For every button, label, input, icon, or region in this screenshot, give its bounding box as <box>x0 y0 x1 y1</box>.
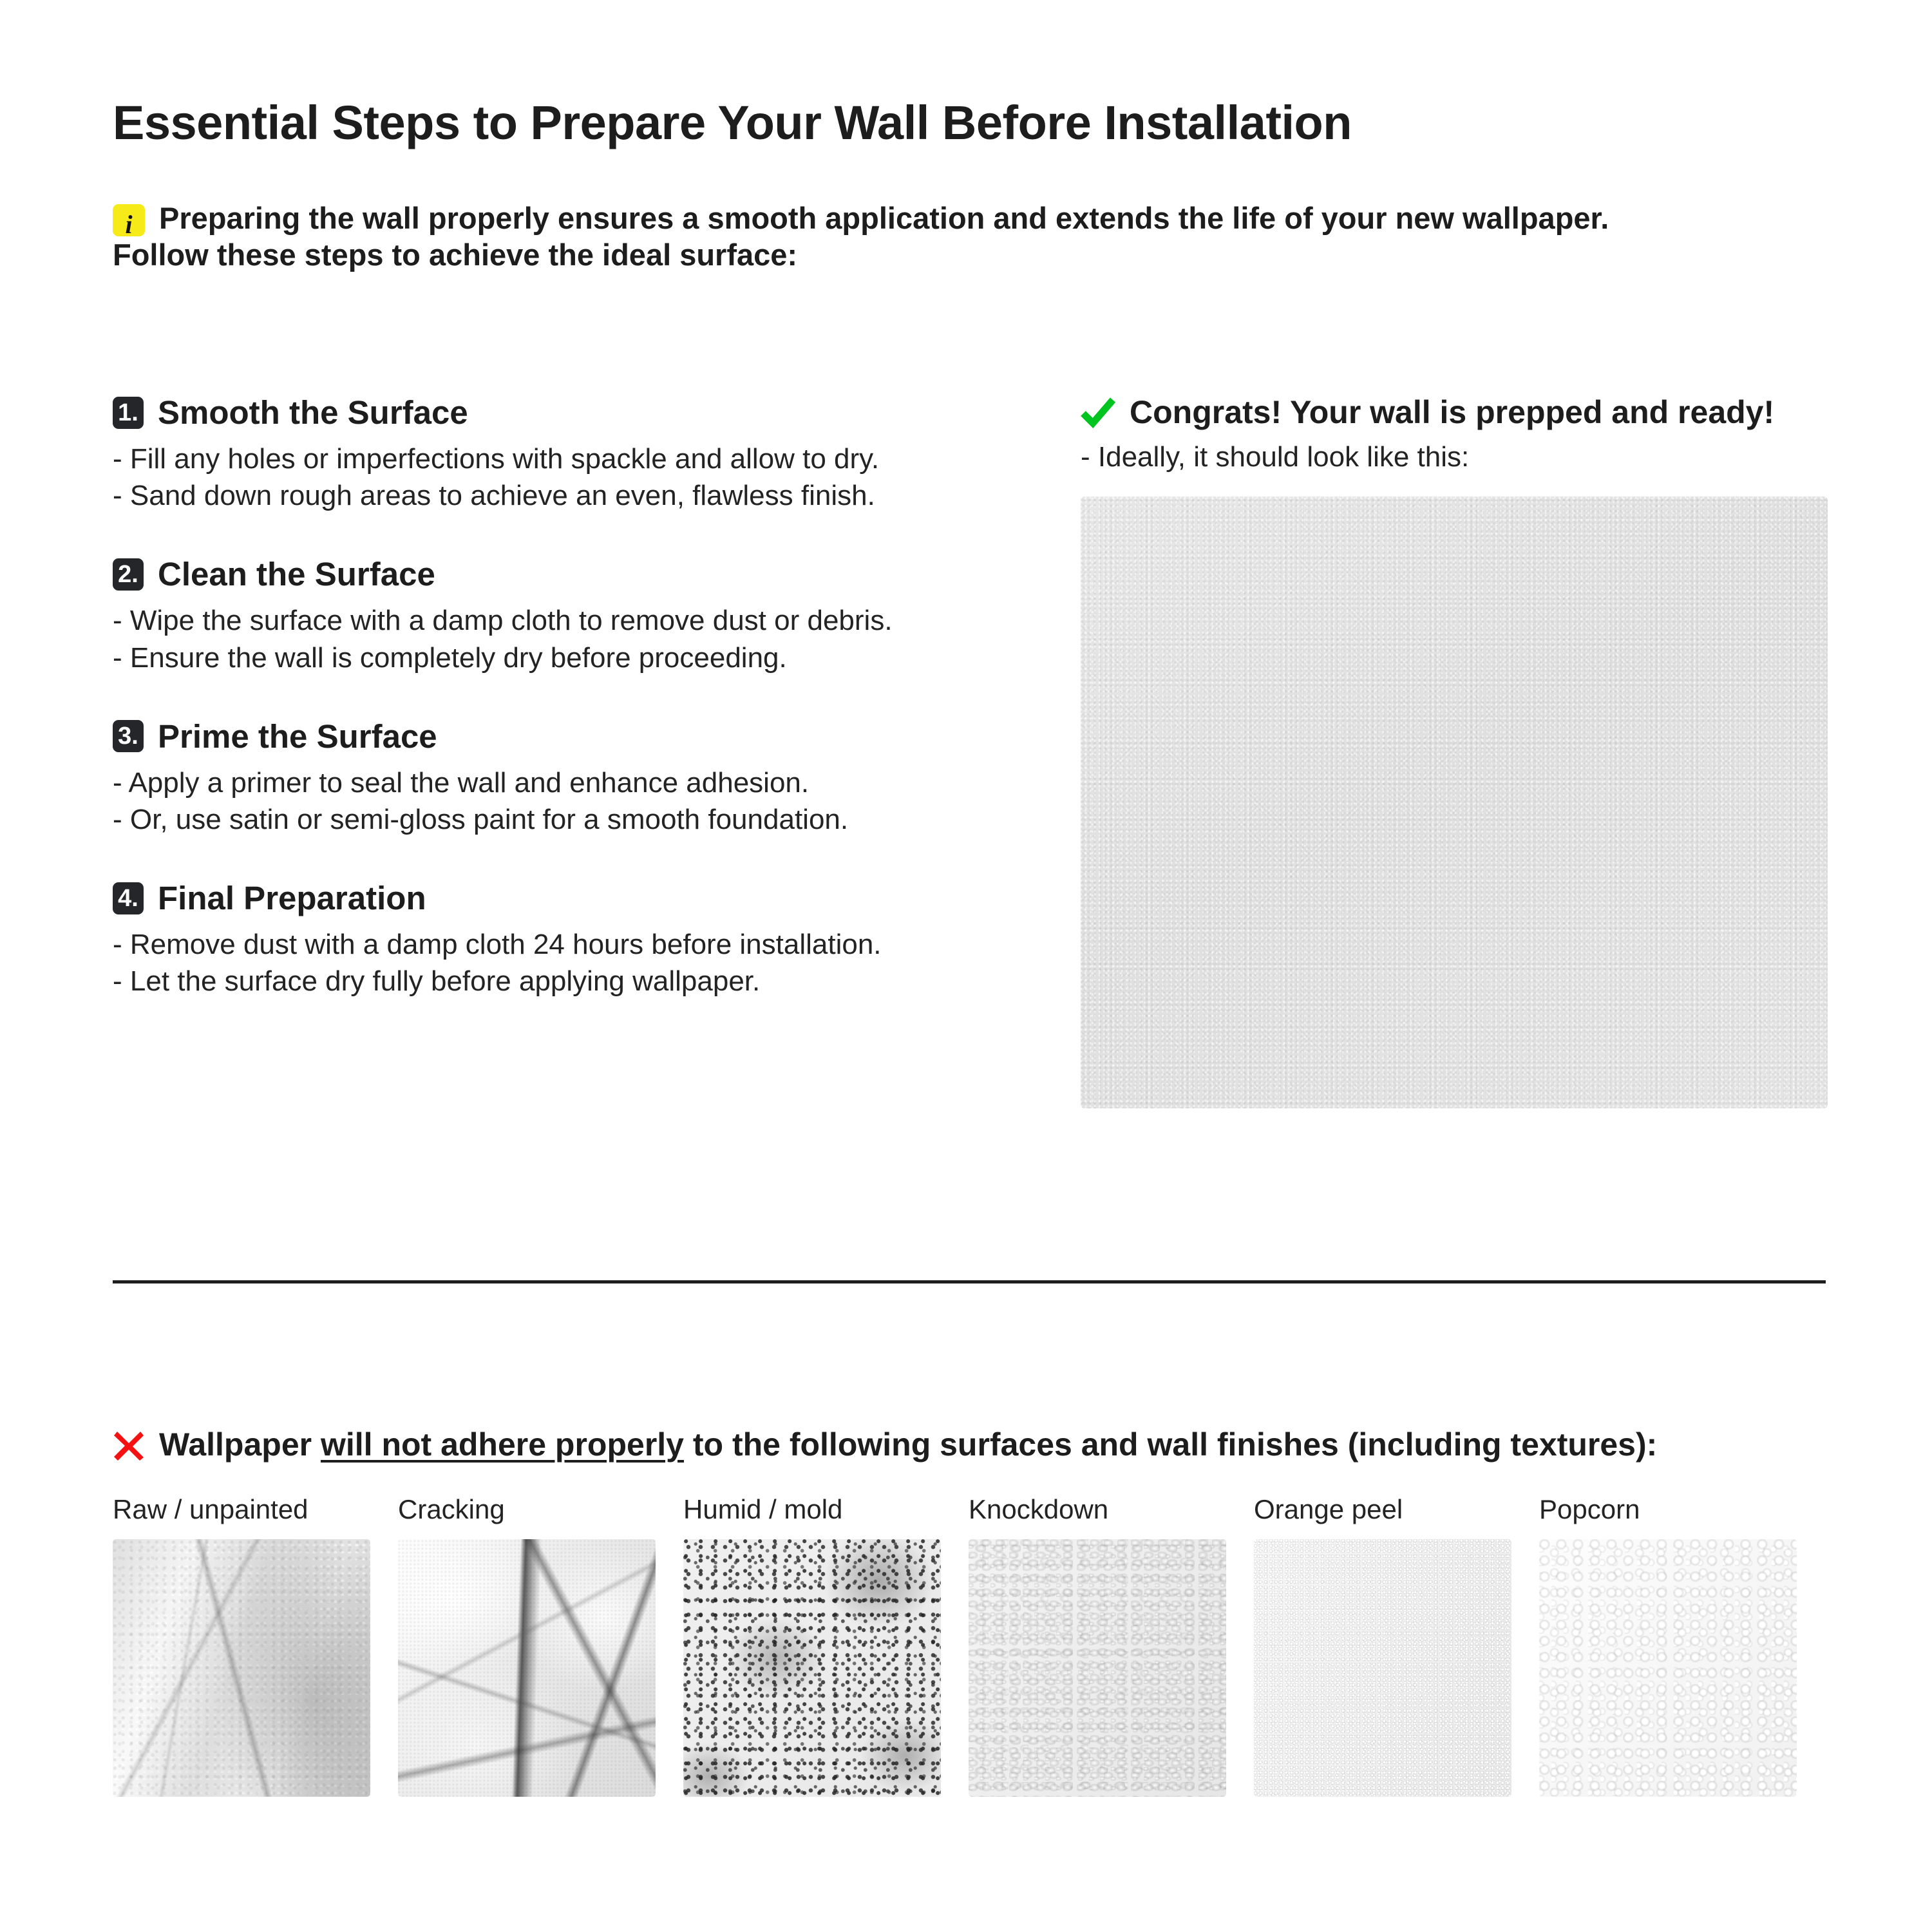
step-header: 1. Smooth the Surface <box>113 396 1027 429</box>
swatch-item: Humid / mold <box>683 1494 969 1797</box>
step-body: - Remove dust with a damp cloth 24 hours… <box>113 926 1027 999</box>
congrats-heading: Congrats! Your wall is prepped and ready… <box>1130 396 1774 428</box>
orange-peel-texture <box>1254 1539 1511 1797</box>
step-bullet: - Apply a primer to seal the wall and en… <box>113 764 1027 801</box>
cracking-paint-texture <box>398 1539 656 1797</box>
step-number-badge: 2. <box>113 558 144 591</box>
intro-line-2: Follow these steps to achieve the ideal … <box>113 238 797 272</box>
raw-unpainted-texture <box>113 1539 370 1797</box>
step-title: Clean the Surface <box>158 558 435 591</box>
step-bullet: - Let the surface dry fully before apply… <box>113 963 1027 999</box>
bad-surface-swatch-row: Raw / unpainted Cracking Humid / mold Kn… <box>113 1494 1826 1797</box>
intro-line-1: Preparing the wall properly ensures a sm… <box>159 201 1609 235</box>
step-header: 3. Prime the Surface <box>113 720 1027 753</box>
step-bullet: - Fill any holes or imperfections with s… <box>113 440 1027 477</box>
swatch-label: Popcorn <box>1539 1494 1824 1525</box>
section-divider <box>113 1280 1826 1283</box>
swatch-label: Knockdown <box>969 1494 1254 1525</box>
swatch-label: Orange peel <box>1254 1494 1539 1525</box>
step-body: - Wipe the surface with a damp cloth to … <box>113 602 1027 676</box>
knockdown-texture <box>969 1539 1226 1797</box>
step-number-badge: 4. <box>113 882 144 914</box>
step-title: Prime the Surface <box>158 720 437 753</box>
step-bullet: - Wipe the surface with a damp cloth to … <box>113 602 1027 639</box>
steps-column: 1. Smooth the Surface - Fill any holes o… <box>113 396 1027 1000</box>
step-title: Final Preparation <box>158 882 426 914</box>
page-title: Essential Steps to Prepare Your Wall Bef… <box>113 95 1352 150</box>
swatch-item: Raw / unpainted <box>113 1494 398 1797</box>
ideal-smooth-wall-preview <box>1081 497 1828 1108</box>
swatch-item: Popcorn <box>1539 1494 1824 1797</box>
popcorn-texture <box>1539 1539 1797 1797</box>
humid-mold-texture <box>683 1539 941 1797</box>
swatch-item: Orange peel <box>1254 1494 1539 1797</box>
info-icon: i <box>113 204 145 236</box>
swatch-item: Cracking <box>398 1494 683 1797</box>
bad-surfaces-heading: Wallpaper will not adhere properly to th… <box>159 1428 1657 1461</box>
step-bullet: - Remove dust with a damp cloth 24 hours… <box>113 926 1027 963</box>
congrats-header: Congrats! Your wall is prepped and ready… <box>1081 396 1828 428</box>
step-header: 4. Final Preparation <box>113 882 1027 914</box>
bad-heading-underlined: will not adhere properly <box>321 1426 684 1463</box>
intro-paragraph: iPreparing the wall properly ensures a s… <box>113 200 1826 274</box>
bad-heading-part-1: Wallpaper <box>159 1426 321 1463</box>
swatch-label: Cracking <box>398 1494 683 1525</box>
step-bullet: - Or, use satin or semi-gloss paint for … <box>113 801 1027 838</box>
step-item: 4. Final Preparation - Remove dust with … <box>113 882 1027 999</box>
congrats-subheading: - Ideally, it should look like this: <box>1081 441 1828 473</box>
step-body: - Fill any holes or imperfections with s… <box>113 440 1027 514</box>
green-check-icon <box>1081 396 1115 428</box>
congrats-column: Congrats! Your wall is prepped and ready… <box>1081 396 1828 1108</box>
step-bullet: - Sand down rough areas to achieve an ev… <box>113 477 1027 514</box>
wall-prep-infographic: Essential Steps to Prepare Your Wall Bef… <box>0 0 1932 1932</box>
step-item: 2. Clean the Surface - Wipe the surface … <box>113 558 1027 676</box>
step-title: Smooth the Surface <box>158 396 468 429</box>
swatch-label: Raw / unpainted <box>113 1494 398 1525</box>
step-number-badge: 1. <box>113 397 144 429</box>
info-icon-glyph: i <box>125 210 132 239</box>
step-body: - Apply a primer to seal the wall and en… <box>113 764 1027 838</box>
bad-surfaces-header: Wallpaper will not adhere properly to th… <box>113 1428 1657 1461</box>
step-header: 2. Clean the Surface <box>113 558 1027 591</box>
step-bullet: - Ensure the wall is completely dry befo… <box>113 639 1027 676</box>
step-item: 1. Smooth the Surface - Fill any holes o… <box>113 396 1027 514</box>
red-x-icon <box>113 1428 145 1461</box>
step-item: 3. Prime the Surface - Apply a primer to… <box>113 720 1027 838</box>
swatch-label: Humid / mold <box>683 1494 969 1525</box>
step-number-badge: 3. <box>113 720 144 752</box>
swatch-item: Knockdown <box>969 1494 1254 1797</box>
bad-heading-part-2: to the following surfaces and wall finis… <box>684 1426 1657 1463</box>
